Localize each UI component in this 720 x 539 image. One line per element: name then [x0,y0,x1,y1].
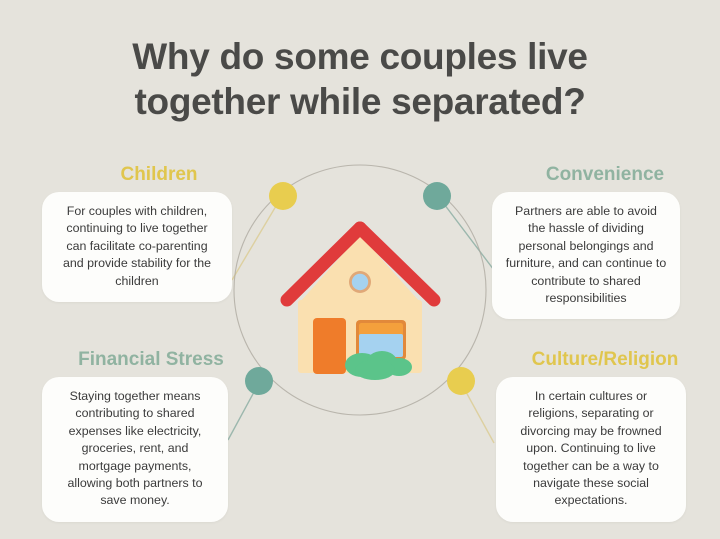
node-convenience-heading: Convenience [492,164,680,186]
node-culture-religion[interactable]: Culture/Religion In certain cultures or … [496,349,686,522]
node-dot-children [269,182,297,210]
node-children-heading: Children [42,164,232,186]
node-dot-convenience [423,182,451,210]
connector-children [232,196,282,280]
infographic-root: Why do some couples live together while … [0,0,720,539]
node-children-card: For couples with children, continuing to… [42,192,232,302]
node-financial-stress-heading: Financial Stress [42,349,228,371]
node-culture-religion-card: In certain cultures or religions, separa… [496,377,686,522]
node-culture-religion-heading: Culture/Religion [496,349,686,371]
connector-convenience [438,196,500,278]
house-illustration [287,228,434,380]
node-dot-culture-religion [447,367,475,395]
node-convenience[interactable]: Convenience Partners are able to avoid t… [492,164,680,319]
node-financial-stress[interactable]: Financial Stress Staying together means … [42,349,228,522]
attic-window-glass [352,274,368,290]
node-convenience-card: Partners are able to avoid the hassle of… [492,192,680,319]
node-financial-stress-card: Staying together means contributing to s… [42,377,228,522]
house-door [313,318,346,374]
node-dot-financial-stress [245,367,273,395]
node-children[interactable]: Children For couples with children, cont… [42,164,232,302]
